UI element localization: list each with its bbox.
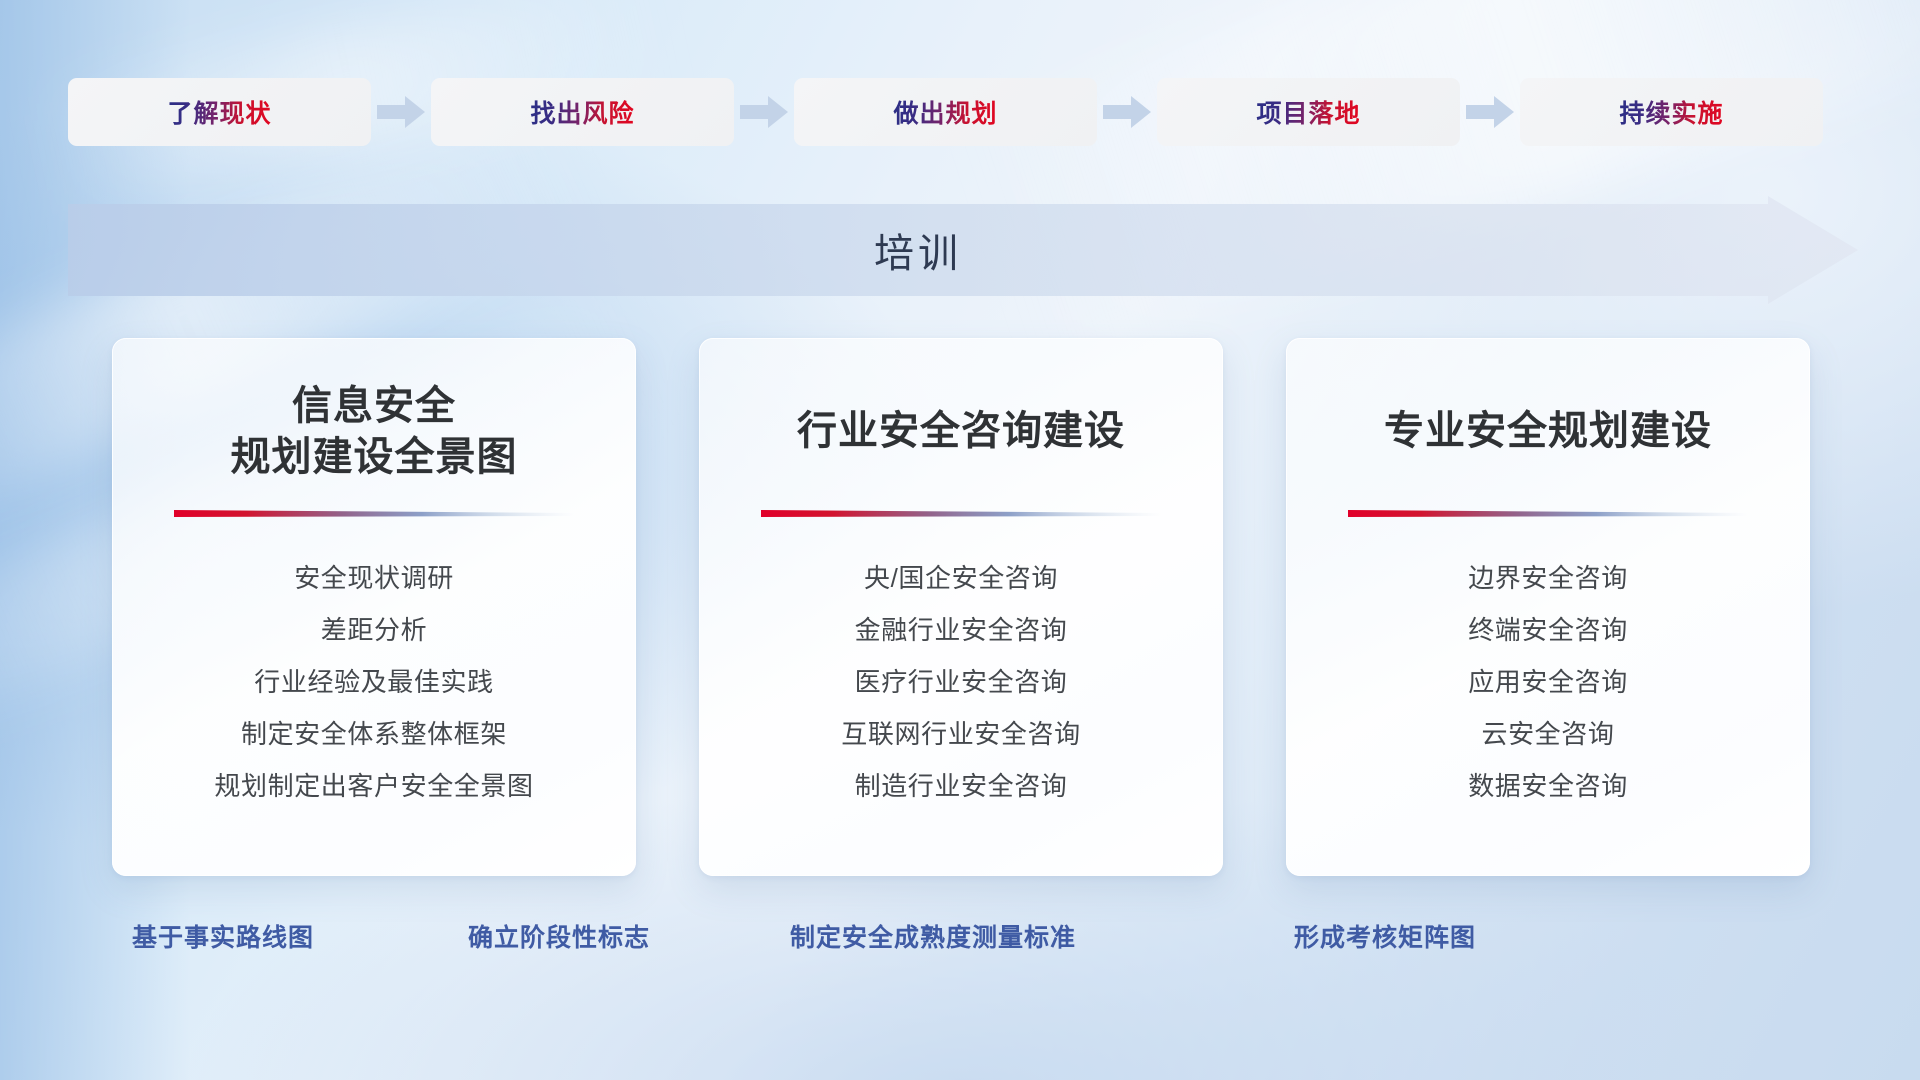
training-banner: 培训 xyxy=(68,196,1858,304)
process-step-5[interactable]: 持续实施 xyxy=(1520,78,1823,146)
process-step-label: 了解现状 xyxy=(167,94,271,130)
card-title: 行业安全咨询建设 xyxy=(797,378,1125,486)
card-row: 信息安全 规划建设全景图 xyxy=(112,338,1812,876)
footer-label-assessment-matrix: 形成考核矩阵图 xyxy=(1294,918,1476,954)
process-step-label: 持续实施 xyxy=(1619,94,1723,130)
card-item-list: 边界安全咨询 终端安全咨询 应用安全咨询 云安全咨询 数据安全咨询 xyxy=(1312,552,1784,812)
list-item: 安全现状调研 xyxy=(138,552,610,604)
list-item: 行业经验及最佳实践 xyxy=(138,656,610,708)
card-professional-security-planning[interactable]: 专业安全规划建设 xyxy=(1286,338,1810,876)
process-step-label: 找出风险 xyxy=(530,94,634,130)
list-item: 制定安全体系整体框架 xyxy=(138,708,610,760)
gradient-divider-icon xyxy=(761,508,1161,522)
gradient-divider-icon xyxy=(1348,508,1748,522)
list-item: 金融行业安全咨询 xyxy=(725,604,1197,656)
list-item: 边界安全咨询 xyxy=(1312,552,1784,604)
training-banner-label: 培训 xyxy=(68,196,1768,304)
card-title: 专业安全规划建设 xyxy=(1384,378,1712,486)
footer-label-maturity-standard: 制定安全成熟度测量标准 xyxy=(790,918,1076,954)
list-item: 终端安全咨询 xyxy=(1312,604,1784,656)
list-item: 数据安全咨询 xyxy=(1312,760,1784,812)
gradient-divider-icon xyxy=(174,508,574,522)
card-item-list: 央/国企安全咨询 金融行业安全咨询 医疗行业安全咨询 互联网行业安全咨询 制造行… xyxy=(725,552,1197,812)
list-item: 医疗行业安全咨询 xyxy=(725,656,1197,708)
slide-canvas: 了解现状 找出风险 做出规划 项目落地 xyxy=(0,0,1920,1080)
process-step-label: 项目落地 xyxy=(1256,94,1360,130)
process-step-3[interactable]: 做出规划 xyxy=(794,78,1097,146)
process-step-1[interactable]: 了解现状 xyxy=(68,78,371,146)
list-item: 央/国企安全咨询 xyxy=(725,552,1197,604)
process-step-row: 了解现状 找出风险 做出规划 项目落地 xyxy=(68,78,1858,146)
list-item: 差距分析 xyxy=(138,604,610,656)
list-item: 制造行业安全咨询 xyxy=(725,760,1197,812)
footer-label-row: 基于事实路线图 确立阶段性标志 制定安全成熟度测量标准 形成考核矩阵图 xyxy=(0,918,1920,964)
process-step-label: 做出规划 xyxy=(893,94,997,130)
background-light-streak xyxy=(967,0,1920,364)
list-item: 应用安全咨询 xyxy=(1312,656,1784,708)
card-info-security-blueprint[interactable]: 信息安全 规划建设全景图 xyxy=(112,338,636,876)
card-title: 信息安全 规划建设全景图 xyxy=(231,378,518,486)
footer-label-milestones: 确立阶段性标志 xyxy=(468,918,650,954)
arrow-right-icon xyxy=(738,92,790,132)
arrow-right-icon xyxy=(1101,92,1153,132)
process-step-4[interactable]: 项目落地 xyxy=(1157,78,1460,146)
card-item-list: 安全现状调研 差距分析 行业经验及最佳实践 制定安全体系整体框架 规划制定出客户… xyxy=(138,552,610,812)
arrow-right-icon xyxy=(375,92,427,132)
arrow-right-icon xyxy=(1464,92,1516,132)
card-industry-security-consulting[interactable]: 行业安全咨询建设 xyxy=(699,338,1223,876)
footer-label-roadmap: 基于事实路线图 xyxy=(132,918,314,954)
list-item: 云安全咨询 xyxy=(1312,708,1784,760)
list-item: 规划制定出客户安全全景图 xyxy=(138,760,610,812)
list-item: 互联网行业安全咨询 xyxy=(725,708,1197,760)
process-step-2[interactable]: 找出风险 xyxy=(431,78,734,146)
